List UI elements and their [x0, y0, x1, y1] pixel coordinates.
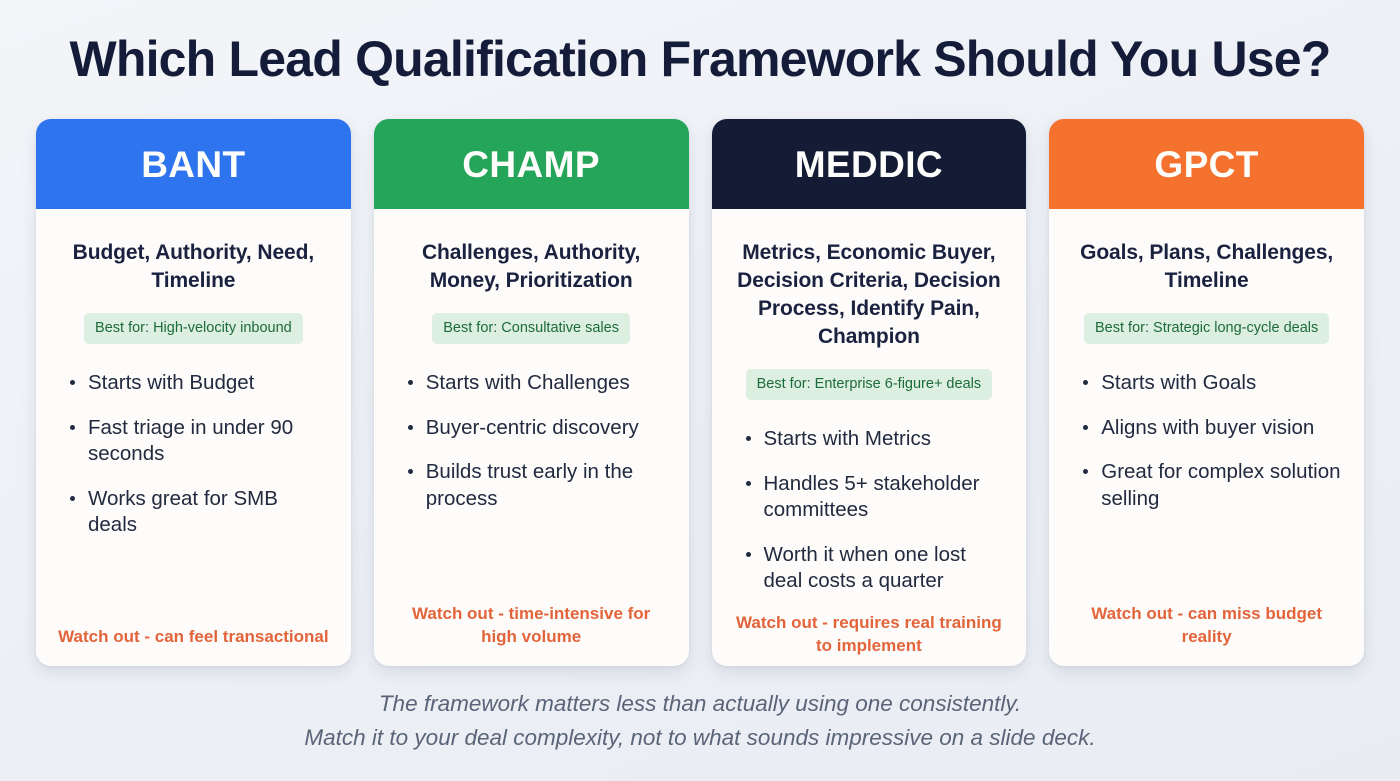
list-item: Starts with Challenges [404, 370, 667, 396]
acronym-expansion-champ: Challenges, Authority, Money, Prioritiza… [390, 209, 673, 295]
acronym-expansion-gpct: Goals, Plans, Challenges, Timeline [1065, 209, 1348, 295]
list-item: Starts with Budget [66, 370, 329, 396]
list-item: Great for complex solution selling [1079, 459, 1342, 512]
card-header-bant: BANT [36, 119, 351, 209]
best-for-badge-gpct: Best for: Strategic long-cycle deals [1084, 313, 1329, 345]
list-item: Aligns with buyer vision [1079, 415, 1342, 441]
framework-name-champ: CHAMP [462, 146, 600, 183]
badge-row-bant: Best for: High-velocity inbound [52, 313, 335, 345]
list-item: Buyer-centric discovery [404, 415, 667, 441]
acronym-expansion-bant: Budget, Authority, Need, Timeline [52, 209, 335, 295]
card-body-gpct: Goals, Plans, Challenges, Timeline Best … [1049, 209, 1364, 666]
infographic-slide: Which Lead Qualification Framework Shoul… [0, 0, 1400, 781]
bullet-list-meddic: Starts with Metrics Handles 5+ stakehold… [728, 426, 1011, 612]
list-item: Starts with Goals [1079, 370, 1342, 396]
watch-out-note-champ: Watch out - time-intensive for high volu… [390, 603, 673, 648]
framework-card-gpct[interactable]: GPCT Goals, Plans, Challenges, Timeline … [1049, 119, 1364, 666]
card-body-bant: Budget, Authority, Need, Timeline Best f… [36, 209, 351, 666]
best-for-badge-champ: Best for: Consultative sales [432, 313, 630, 345]
best-for-badge-bant: Best for: High-velocity inbound [84, 313, 303, 345]
list-item: Builds trust early in the process [404, 459, 667, 512]
title-area: Which Lead Qualification Framework Shoul… [0, 0, 1400, 119]
watch-out-note-gpct: Watch out - can miss budget reality [1065, 603, 1348, 648]
footer-note: The framework matters less than actually… [0, 666, 1400, 781]
bullet-list-gpct: Starts with Goals Aligns with buyer visi… [1065, 370, 1348, 603]
badge-row-meddic: Best for: Enterprise 6-figure+ deals [728, 369, 1011, 401]
list-item: Works great for SMB deals [66, 486, 329, 539]
footer-line-2: Match it to your deal complexity, not to… [304, 722, 1095, 753]
framework-name-bant: BANT [141, 146, 245, 183]
badge-row-champ: Best for: Consultative sales [390, 313, 673, 345]
card-body-champ: Challenges, Authority, Money, Prioritiza… [374, 209, 689, 666]
framework-name-gpct: GPCT [1154, 146, 1258, 183]
framework-card-bant[interactable]: BANT Budget, Authority, Need, Timeline B… [36, 119, 351, 666]
badge-row-gpct: Best for: Strategic long-cycle deals [1065, 313, 1348, 345]
card-header-gpct: GPCT [1049, 119, 1364, 209]
bullet-list-bant: Starts with Budget Fast triage in under … [52, 370, 335, 625]
watch-out-note-bant: Watch out - can feel transactional [52, 626, 335, 648]
list-item: Starts with Metrics [742, 426, 1005, 452]
framework-card-meddic[interactable]: MEDDIC Metrics, Economic Buyer, Decision… [712, 119, 1027, 666]
watch-out-note-meddic: Watch out - requires real training to im… [728, 612, 1011, 657]
list-item: Worth it when one lost deal costs a quar… [742, 542, 1005, 595]
footer-line-1: The framework matters less than actually… [379, 688, 1021, 719]
card-body-meddic: Metrics, Economic Buyer, Decision Criter… [712, 209, 1027, 666]
bullet-list-champ: Starts with Challenges Buyer-centric dis… [390, 370, 673, 603]
list-item: Fast triage in under 90 seconds [66, 415, 329, 468]
framework-cards-row: BANT Budget, Authority, Need, Timeline B… [0, 119, 1400, 666]
acronym-expansion-meddic: Metrics, Economic Buyer, Decision Criter… [728, 209, 1011, 351]
framework-name-meddic: MEDDIC [795, 146, 943, 183]
page-title: Which Lead Qualification Framework Shoul… [69, 33, 1330, 86]
list-item: Handles 5+ stakeholder committees [742, 471, 1005, 524]
card-header-champ: CHAMP [374, 119, 689, 209]
framework-card-champ[interactable]: CHAMP Challenges, Authority, Money, Prio… [374, 119, 689, 666]
best-for-badge-meddic: Best for: Enterprise 6-figure+ deals [746, 369, 992, 401]
card-header-meddic: MEDDIC [712, 119, 1027, 209]
